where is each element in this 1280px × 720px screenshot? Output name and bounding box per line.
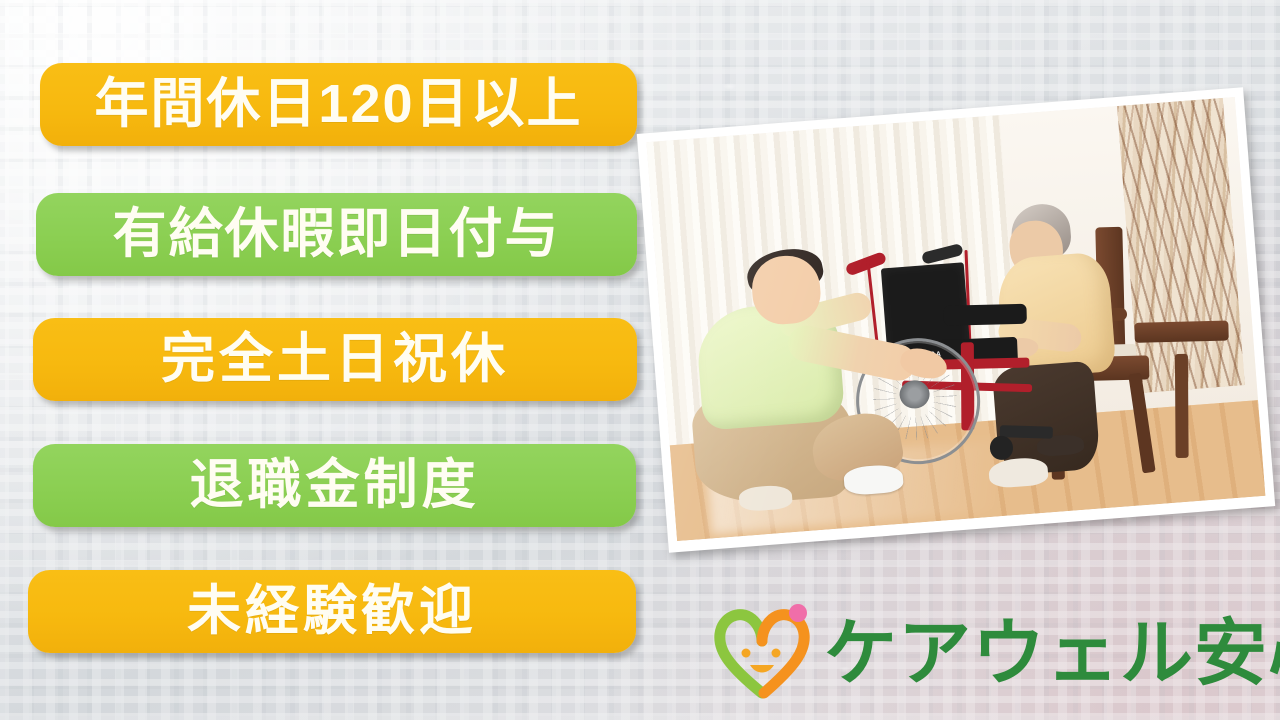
photo-curtain-right bbox=[1117, 98, 1245, 393]
photo-wheelchair-footplate bbox=[1000, 425, 1053, 438]
photo-frame: MEYRA bbox=[637, 87, 1275, 552]
brand-logo-text: ケアウェル安心 bbox=[824, 617, 1280, 690]
benefit-badge-label: 完全土日祝休 bbox=[161, 332, 509, 386]
benefit-badge-label: 年間休日120日以上 bbox=[94, 77, 582, 131]
caregiver-photo: MEYRA bbox=[646, 97, 1265, 541]
benefit-badge-label: 未経験歓迎 bbox=[187, 584, 477, 638]
photo-second-chair bbox=[1134, 321, 1229, 343]
benefit-badge-label: 有給休暇即日付与 bbox=[113, 207, 561, 261]
benefit-badge-paid-leave[interactable]: 有給休暇即日付与 bbox=[36, 193, 637, 276]
benefit-badge-label: 退職金制度 bbox=[190, 458, 480, 512]
benefit-badge-annual-holidays[interactable]: 年間休日120日以上 bbox=[40, 63, 637, 146]
poster-canvas: 年間休日120日以上 有給休暇即日付与 完全土日祝休 退職金制度 未経験歓迎 bbox=[0, 0, 1280, 720]
brand-logo[interactable]: ケアウェル安心 bbox=[712, 596, 1272, 706]
benefit-badge-weekend-holiday[interactable]: 完全土日祝休 bbox=[33, 318, 637, 401]
heart-face-mark-icon bbox=[712, 601, 828, 701]
photo-chair-leg bbox=[1175, 354, 1189, 458]
benefit-badge-retirement-allowance[interactable]: 退職金制度 bbox=[33, 444, 636, 527]
photo-wheelchair-armrest bbox=[944, 304, 1027, 326]
benefit-badge-no-experience[interactable]: 未経験歓迎 bbox=[28, 570, 636, 653]
